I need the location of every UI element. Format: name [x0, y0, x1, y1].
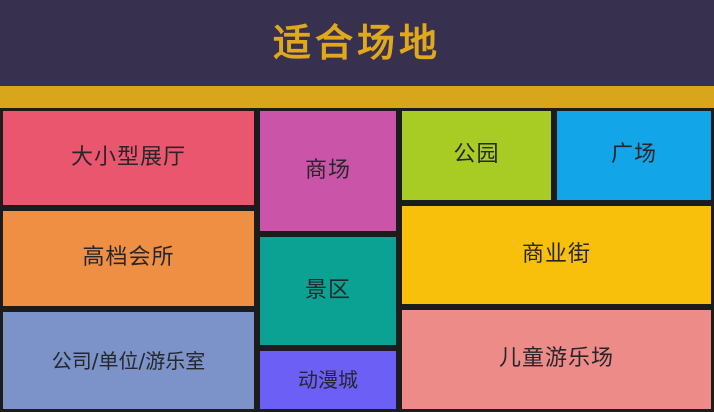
venue-tile-mosaic: 大小型展厅 高档会所 公司/单位/游乐室 商场 景区 动漫城 公园 广场 商业街… — [0, 108, 714, 412]
tile-label: 大小型展厅 — [71, 146, 186, 170]
tile-label: 商场 — [305, 159, 351, 183]
tile-label: 动漫城 — [298, 369, 358, 391]
tile-mall[interactable]: 商场 — [257, 108, 399, 234]
tile-childrens-playground[interactable]: 儿童游乐场 — [399, 307, 714, 412]
tile-label: 公园 — [453, 143, 499, 167]
tile-anime-city[interactable]: 动漫城 — [257, 348, 399, 412]
tile-label: 商业街 — [522, 243, 591, 267]
slide-root: 适合场地 大小型展厅 高档会所 公司/单位/游乐室 商场 景区 动漫城 公园 广… — [0, 0, 714, 412]
page-title: 适合场地 — [273, 24, 441, 62]
tile-square[interactable]: 广场 — [554, 108, 714, 203]
tile-exhibition-hall[interactable]: 大小型展厅 — [0, 108, 257, 208]
tile-commercial-street[interactable]: 商业街 — [399, 203, 714, 307]
tile-park[interactable]: 公园 — [399, 108, 554, 203]
tile-label: 公司/单位/游乐室 — [52, 350, 205, 372]
tile-club[interactable]: 高档会所 — [0, 208, 257, 309]
tile-company-unit-playroom[interactable]: 公司/单位/游乐室 — [0, 309, 257, 412]
tile-label: 高档会所 — [82, 246, 174, 270]
tile-label: 景区 — [305, 279, 351, 303]
tile-label: 广场 — [611, 143, 657, 167]
slide-header: 适合场地 — [0, 0, 714, 86]
accent-rule — [0, 86, 714, 108]
tile-scenic-area[interactable]: 景区 — [257, 234, 399, 348]
tile-label: 儿童游乐场 — [499, 347, 614, 371]
